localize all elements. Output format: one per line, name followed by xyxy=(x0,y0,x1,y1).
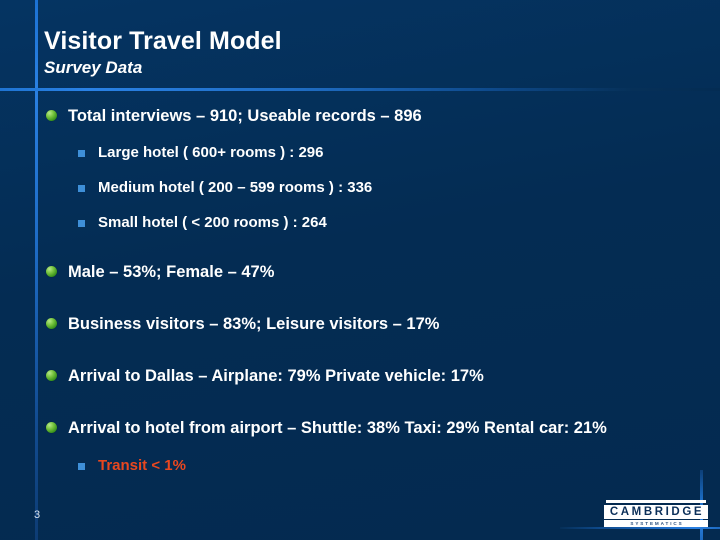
spacer xyxy=(40,199,690,212)
bullet-text: Total interviews – 910; Useable records … xyxy=(68,104,690,129)
slide-body: Total interviews – 910; Useable records … xyxy=(40,104,690,477)
subbullet-text: Transit < 1% xyxy=(98,457,186,474)
subbullet-text: Small hotel ( < 200 rooms ) : 264 xyxy=(98,214,327,231)
subbullet-item-large-hotel: Large hotel ( 600+ rooms ) : 296 xyxy=(70,142,690,164)
decorative-horizontal-line-bottom xyxy=(560,527,720,529)
spacer xyxy=(40,337,690,364)
bullet-text: Arrival to Dallas – Airplane: 79% Privat… xyxy=(68,364,690,389)
bullet-item-total-interviews: Total interviews – 910; Useable records … xyxy=(40,104,690,129)
slide: Visitor Travel Model Survey Data Total i… xyxy=(0,0,720,540)
page-number: 3 xyxy=(34,508,40,522)
square-bullet-icon xyxy=(78,185,85,192)
bullet-item-gender-split: Male – 53%; Female – 47% xyxy=(40,260,690,285)
spacer xyxy=(40,441,690,455)
logo-subwordmark: SYSTEMATICS xyxy=(604,520,708,527)
bullet-item-arrival-to-hotel: Arrival to hotel from airport – Shuttle:… xyxy=(40,416,690,441)
bullet-text: Male – 53%; Female – 47% xyxy=(68,260,690,285)
bullet-text: Arrival to hotel from airport – Shuttle:… xyxy=(68,416,690,441)
bullet-item-trip-purpose: Business visitors – 83%; Leisure visitor… xyxy=(40,312,690,337)
bullet-item-arrival-to-dallas: Arrival to Dallas – Airplane: 79% Privat… xyxy=(40,364,690,389)
sphere-bullet-icon xyxy=(46,422,57,433)
page-subtitle: Survey Data xyxy=(44,57,664,79)
spacer xyxy=(40,164,690,177)
cambridge-systematics-logo: CAMBRIDGE SYSTEMATICS xyxy=(604,500,708,527)
square-bullet-icon xyxy=(78,220,85,227)
subbullet-text: Large hotel ( 600+ rooms ) : 296 xyxy=(98,144,324,161)
sphere-bullet-icon xyxy=(46,266,57,277)
spacer xyxy=(40,234,690,260)
square-bullet-icon xyxy=(78,150,85,157)
bullet-text: Business visitors – 83%; Leisure visitor… xyxy=(68,312,690,337)
spacer xyxy=(40,285,690,312)
subbullet-text: Medium hotel ( 200 – 599 rooms ) : 336 xyxy=(98,179,372,196)
decorative-vertical-line-left xyxy=(35,0,38,540)
sphere-bullet-icon xyxy=(46,370,57,381)
sphere-bullet-icon xyxy=(46,110,57,121)
spacer xyxy=(40,389,690,416)
logo-wordmark: CAMBRIDGE xyxy=(604,505,708,519)
sphere-bullet-icon xyxy=(46,318,57,329)
square-bullet-icon xyxy=(78,463,85,470)
decorative-horizontal-line-top xyxy=(0,88,720,91)
subbullet-item-medium-hotel: Medium hotel ( 200 – 599 rooms ) : 336 xyxy=(70,177,690,199)
spacer xyxy=(40,129,690,142)
subbullet-item-transit: Transit < 1% xyxy=(70,455,690,477)
page-title: Visitor Travel Model xyxy=(44,26,664,56)
subbullet-item-small-hotel: Small hotel ( < 200 rooms ) : 264 xyxy=(70,212,690,234)
logo-rule xyxy=(606,500,706,503)
title-block: Visitor Travel Model Survey Data xyxy=(44,26,664,79)
